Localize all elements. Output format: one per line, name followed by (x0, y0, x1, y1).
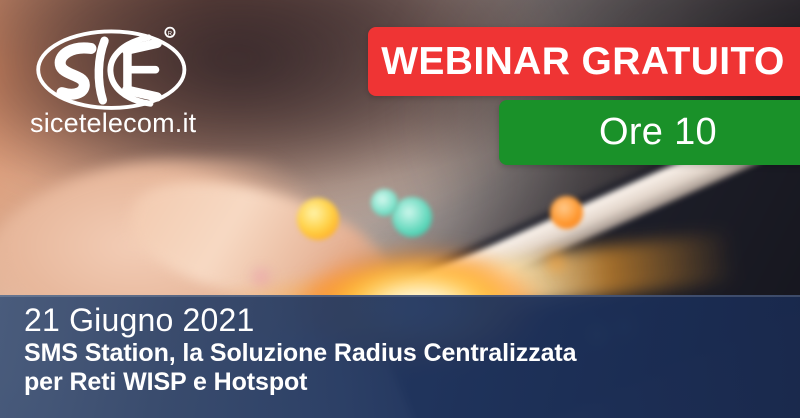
webinar-free-badge[interactable]: WEBINAR GRATUITO (368, 27, 800, 96)
footer-divider (0, 295, 800, 297)
bokeh-amber-dim-icon (544, 250, 568, 274)
brand-wordmark: sicetelecom.it (30, 110, 228, 137)
event-title-line-1: SMS Station, la Soluzione Radius Central… (24, 339, 784, 368)
footer-info-band: 21 Giugno 2021 SMS Station, la Soluzione… (0, 295, 800, 418)
webinar-time-badge-label: Ore 10 (599, 111, 717, 154)
bokeh-teal-small-icon (371, 189, 398, 216)
webinar-time-badge[interactable]: Ore 10 (499, 100, 800, 165)
bokeh-yellow-icon (297, 198, 339, 240)
event-title-line-2: per Reti WISP e Hotspot (24, 368, 784, 397)
bokeh-teal-large-icon (392, 197, 432, 237)
bokeh-violet-icon (252, 268, 270, 286)
svg-text:R: R (168, 31, 173, 37)
webinar-promo-banner: R sicetelecom.it WEBINAR GRATUITO Ore 10… (0, 0, 800, 418)
brand-logo[interactable]: R sicetelecom.it (28, 22, 228, 137)
webinar-free-badge-label: WEBINAR GRATUITO (381, 40, 795, 84)
sice-oval-logo-icon: R (28, 22, 198, 114)
event-date: 21 Giugno 2021 (24, 303, 784, 338)
footer-text-group: 21 Giugno 2021 SMS Station, la Soluzione… (24, 303, 784, 397)
bokeh-orange-icon (550, 196, 583, 229)
